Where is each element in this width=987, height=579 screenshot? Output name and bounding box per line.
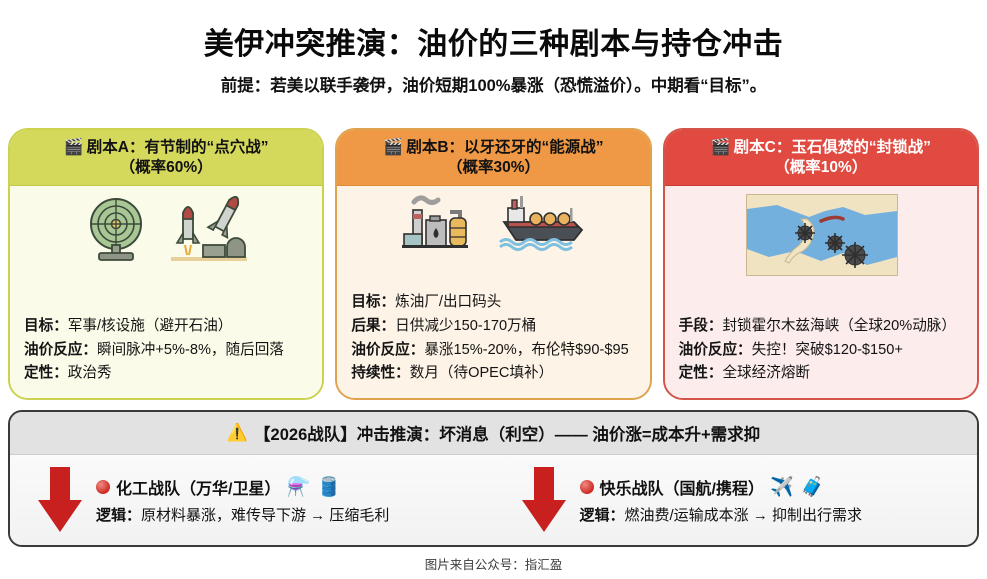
missile-launch-icon <box>167 195 251 265</box>
travel-team-logic: 逻辑：燃油费/运输成本涨 → 抑制出行需求 <box>580 504 863 525</box>
scenario-c-body: 手段：封锁霍尔木兹海峡（全球20%动脉） 油价反应：失控！突破$120-$150… <box>665 186 977 398</box>
chemical-team-title: 化工战队（万华/卫星） <box>116 475 280 499</box>
scenario-a-probability: （概率60%） <box>16 158 316 177</box>
scenario-c-probability: （概率10%） <box>671 158 971 177</box>
row-value: 瞬间脉冲+5%-8%，随后回落 <box>97 342 284 358</box>
scenario-a-illustration <box>24 192 310 268</box>
logic-value: 原材料暴涨，难传导下游 → 压缩毛利 <box>141 507 389 524</box>
row-label: 定性： <box>679 365 723 381</box>
page-subtitle: 前提：若美以联手袭伊，油价短期100%暴涨（恐慌溢价）。中期看“目标”。 <box>0 77 987 95</box>
scenario-card-a[interactable]: 🎬剧本A：有节制的“点穴战” （概率60%） <box>8 128 324 400</box>
scenario-a-body: 目标：军事/核设施（避开石油） 油价反应：瞬间脉冲+5%-8%，随后回落 定性：… <box>10 186 322 398</box>
scenario-b-probability: （概率30%） <box>343 158 643 177</box>
row-label: 油价反应： <box>24 342 97 358</box>
travel-team-block[interactable]: 快乐战队（国航/携程） ✈️ 🧳 逻辑：燃油费/运输成本涨 → 抑制出行需求 <box>494 455 978 545</box>
table-row: 后果：日供减少150-170万桶 <box>351 315 637 339</box>
scenario-a-rows: 目标：军事/核设施（避开石油） 油价反应：瞬间脉冲+5%-8%，随后回落 定性：… <box>24 268 310 390</box>
down-arrow-icon <box>38 467 82 533</box>
scenario-b-illustration <box>351 192 637 254</box>
scenario-c-illustration <box>679 192 965 278</box>
page-title: 美伊冲突推演：油价的三种剧本与持仓冲击 <box>0 0 987 61</box>
travel-team-text: 快乐战队（国航/携程） ✈️ 🧳 逻辑：燃油费/运输成本涨 → 抑制出行需求 <box>580 475 863 525</box>
clapperboard-icon: 🎬 <box>711 139 731 156</box>
row-value: 封锁霍尔木兹海峡（全球20%动脉） <box>722 318 956 334</box>
scenario-a-title: 剧本A：有节制的“点穴战” <box>87 139 269 156</box>
chemical-team-block[interactable]: 化工战队（万华/卫星） ⚗️ 🛢️ 逻辑：原材料暴涨，难传导下游 → 压缩毛利 <box>10 455 494 545</box>
row-value: 数月（待OPEC填补） <box>410 365 554 381</box>
scenario-b-header: 🎬剧本B：以牙还牙的“能源战” （概率30%） <box>337 130 649 186</box>
logic-label: 逻辑： <box>580 507 625 524</box>
table-row: 定性：全球经济熔断 <box>679 362 965 386</box>
row-label: 目标： <box>24 318 68 334</box>
scenario-cards: 🎬剧本A：有节制的“点穴战” （概率60%） <box>8 128 979 400</box>
logic-label: 逻辑： <box>96 507 141 524</box>
scenario-c-title: 剧本C：玉石俱焚的“封锁战” <box>734 139 931 156</box>
chemical-team-logic: 逻辑：原材料暴涨，难传导下游 → 压缩毛利 <box>96 504 389 525</box>
refinery-icon <box>400 192 482 254</box>
travel-team-title: 快乐战队（国航/携程） <box>600 475 764 499</box>
row-value: 全球经济熔断 <box>722 365 810 381</box>
row-value: 炼油厂/出口码头 <box>395 294 501 310</box>
impact-panel-headline: 【2026战队】冲击推演：坏消息（利空）—— 油价涨=成本升+需求抑 <box>254 421 760 445</box>
scenario-card-b[interactable]: 🎬剧本B：以牙还牙的“能源战” （概率30%） <box>335 128 651 400</box>
clapperboard-icon: 🎬 <box>383 139 403 156</box>
logic-value: 燃油费/运输成本涨 → 抑制出行需求 <box>625 507 863 524</box>
row-label: 持续性： <box>351 365 409 381</box>
red-dot-icon <box>580 480 594 494</box>
down-arrow-icon <box>522 467 566 533</box>
impact-panel: ⚠️ 【2026战队】冲击推演：坏消息（利空）—— 油价涨=成本升+需求抑 化工… <box>8 410 979 547</box>
airplane-icon: ✈️ <box>770 475 795 499</box>
row-label: 定性： <box>24 365 68 381</box>
chemical-team-title-row: 化工战队（万华/卫星） ⚗️ 🛢️ <box>96 475 389 499</box>
scenario-c-header: 🎬剧本C：玉石俱焚的“封锁战” （概率10%） <box>665 130 977 186</box>
flask-icon: ⚗️ <box>286 475 311 499</box>
row-label: 手段： <box>679 318 723 334</box>
row-value: 失控！突破$120-$150+ <box>752 342 903 358</box>
table-row: 油价反应：暴涨15%-20%，布伦特$90-$95 <box>351 339 637 363</box>
row-label: 油价反应： <box>679 342 752 358</box>
row-value: 暴涨15%-20%，布伦特$90-$95 <box>424 342 628 358</box>
impact-panel-body: 化工战队（万华/卫星） ⚗️ 🛢️ 逻辑：原材料暴涨，难传导下游 → 压缩毛利 <box>10 455 977 545</box>
clapperboard-icon: 🎬 <box>64 139 84 156</box>
table-row: 手段：封锁霍尔木兹海峡（全球20%动脉） <box>679 315 965 339</box>
table-row: 目标：军事/核设施（避开石油） <box>24 315 310 339</box>
infographic-page: 美伊冲突推演：油价的三种剧本与持仓冲击 前提：若美以联手袭伊，油价短期100%暴… <box>0 0 987 579</box>
chemical-team-text: 化工战队（万华/卫星） ⚗️ 🛢️ 逻辑：原材料暴涨，难传导下游 → 压缩毛利 <box>96 475 389 525</box>
tanker-ship-icon <box>496 194 588 252</box>
warning-triangle-icon: ⚠️ <box>227 423 248 443</box>
radar-dish-icon <box>83 197 153 263</box>
travel-team-title-row: 快乐战队（国航/携程） ✈️ 🧳 <box>580 475 863 499</box>
scenario-b-body: 目标：炼油厂/出口码头 后果：日供减少150-170万桶 油价反应：暴涨15%-… <box>337 186 649 398</box>
table-row: 油价反应：失控！突破$120-$150+ <box>679 339 965 363</box>
row-value: 日供减少150-170万桶 <box>395 318 536 334</box>
table-row: 持续性：数月（待OPEC填补） <box>351 362 637 386</box>
table-row: 定性：政治秀 <box>24 362 310 386</box>
row-value: 政治秀 <box>68 365 112 381</box>
oil-barrel-icon: 🛢️ <box>317 475 342 499</box>
scenario-a-header: 🎬剧本A：有节制的“点穴战” （概率60%） <box>10 130 322 186</box>
scenario-c-rows: 手段：封锁霍尔木兹海峡（全球20%动脉） 油价反应：失控！突破$120-$150… <box>679 278 965 390</box>
row-value: 军事/核设施（避开石油） <box>68 318 233 334</box>
hormuz-strait-map-icon <box>746 194 898 276</box>
table-row: 目标：炼油厂/出口码头 <box>351 291 637 315</box>
row-label: 目标： <box>351 294 395 310</box>
scenario-b-rows: 目标：炼油厂/出口码头 后果：日供减少150-170万桶 油价反应：暴涨15%-… <box>351 254 637 390</box>
row-label: 后果： <box>351 318 395 334</box>
scenario-b-title: 剧本B：以牙还牙的“能源战” <box>406 139 603 156</box>
scenario-card-c[interactable]: 🎬剧本C：玉石俱焚的“封锁战” （概率10%） <box>663 128 979 400</box>
suitcase-icon: 🧳 <box>801 475 826 499</box>
red-dot-icon <box>96 480 110 494</box>
impact-panel-header: ⚠️ 【2026战队】冲击推演：坏消息（利空）—— 油价涨=成本升+需求抑 <box>10 412 977 455</box>
table-row: 油价反应：瞬间脉冲+5%-8%，随后回落 <box>24 339 310 363</box>
row-label: 油价反应： <box>351 342 424 358</box>
footer-source: 图片来自公众号：指汇盈 <box>0 554 987 573</box>
